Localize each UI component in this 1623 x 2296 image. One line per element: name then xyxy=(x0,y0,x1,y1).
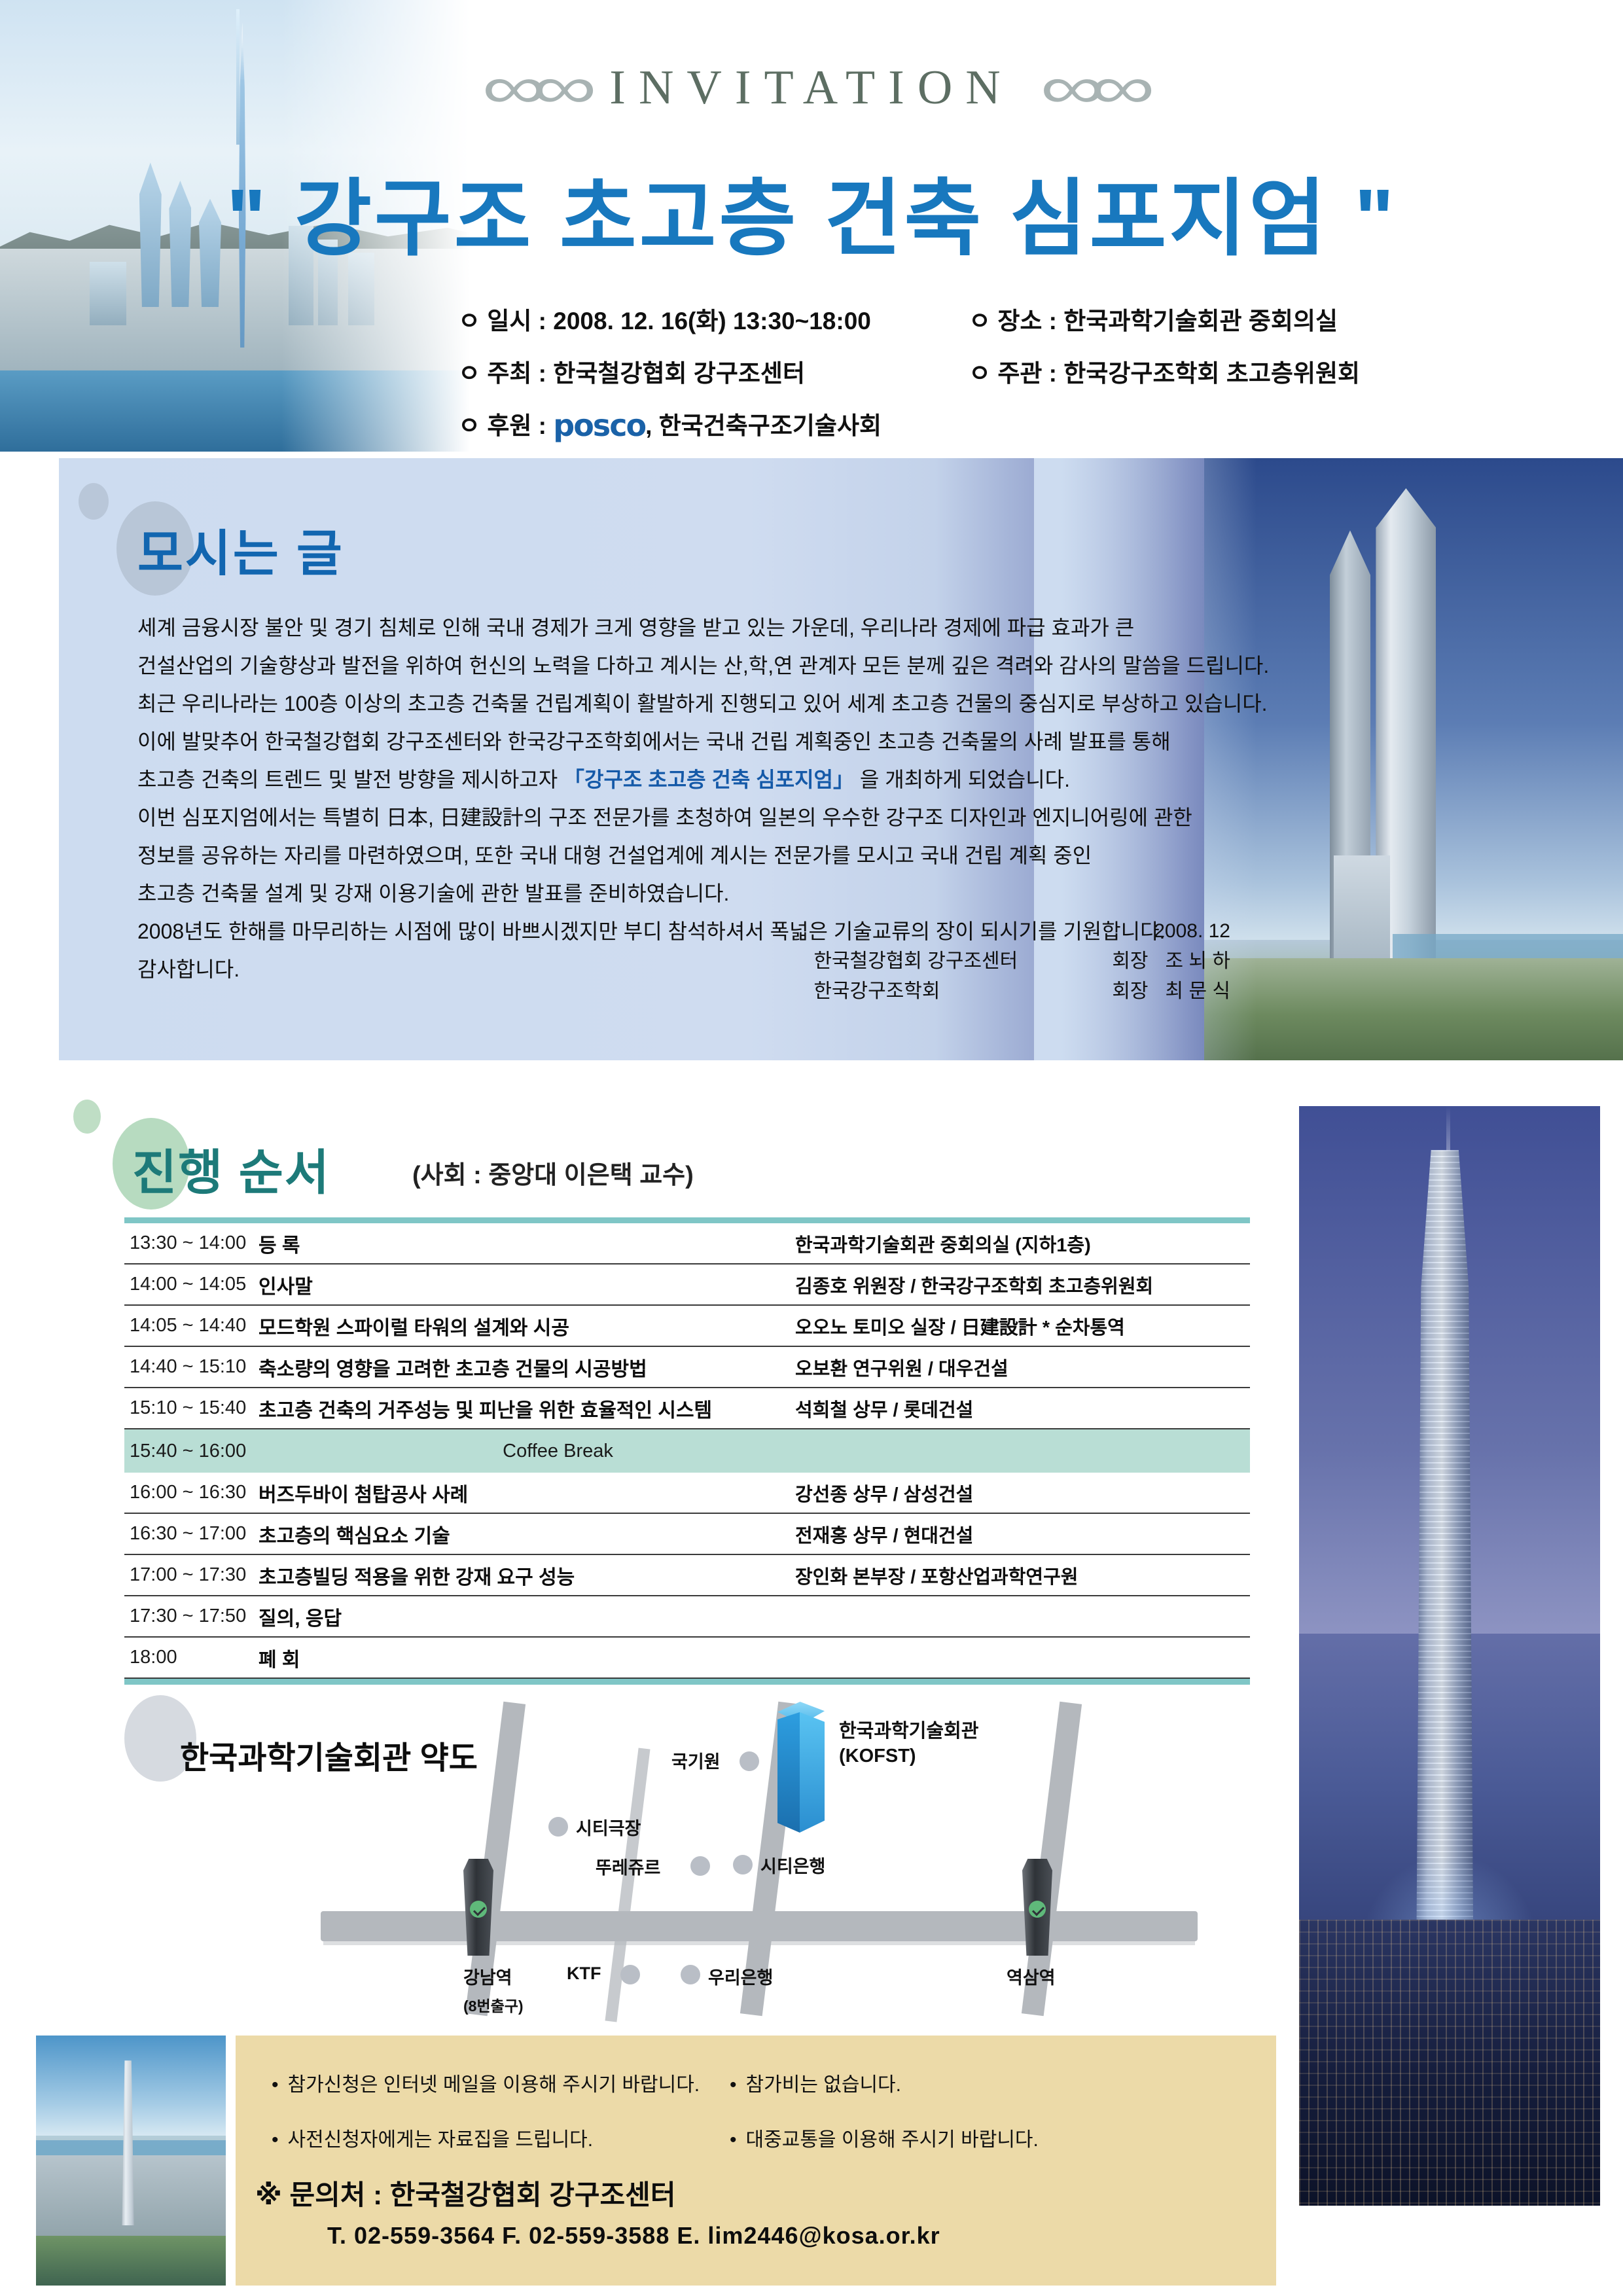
map-label-gangnam-station: 강남역 xyxy=(463,1964,512,1989)
row-speaker: 한국과학기술회관 중회의실 (지하1층) xyxy=(795,1230,1250,1257)
row-topic: 폐 회 xyxy=(259,1643,795,1672)
footer-note-text: 참가신청은 인터넷 메일을 이용해 주시기 바랍니다. xyxy=(288,2074,700,2096)
greeting-heading: 모시는 글 xyxy=(137,513,344,585)
map-label-ktf: KTF xyxy=(567,1964,601,1984)
decorative-blob-small-green xyxy=(73,1100,101,1134)
map-label-woori-bank: 우리은행 xyxy=(708,1964,773,1989)
poi-citibank-icon xyxy=(733,1855,753,1874)
kofst-name: 한국과학기술회관 xyxy=(839,1719,978,1744)
invitation-banner: ∞∞ INVITATION ∞∞ xyxy=(0,58,1623,118)
row-time: 17:30 ~ 17:50 xyxy=(124,1605,259,1627)
signature-row: 한국강구조학회 회장 최 문 식 xyxy=(813,977,1230,1007)
greeting-line: 이에 발맞추어 한국철강협회 강구조센터와 한국강구조학회에서는 국내 건립 계… xyxy=(137,723,1289,761)
footer-notes-row: •참가신청은 인터넷 메일을 이용해 주시기 바랍니다. •참가비는 없습니다. xyxy=(272,2068,1240,2097)
greeting-line: 초고층 건축물 설계 및 강재 이용기술에 관한 발표를 준비하였습니다. xyxy=(137,874,1289,912)
bullet-dot-icon: • xyxy=(730,2074,737,2096)
footer-note-text: 참가비는 없습니다. xyxy=(746,2074,901,2096)
row-topic: Coffee Break xyxy=(259,1441,1250,1462)
table-row-coffee-break: 15:40 ~ 16:00 Coffee Break xyxy=(124,1429,1250,1473)
footer-note-text: 대중교통을 이용해 주시기 바랍니다. xyxy=(746,2129,1039,2151)
poi-tous-les-jours-icon xyxy=(690,1856,710,1876)
table-row: 14:05 ~ 14:40 모드학원 스파이럴 타워의 설계와 시공 오오노 토… xyxy=(124,1306,1250,1347)
greeting-line: 최근 우리나라는 100층 이상의 초고층 건축물 건립계획이 활발하게 진행되… xyxy=(137,685,1289,723)
page-title: " 강구조 초고층 건축 심포지엄 " xyxy=(0,151,1623,272)
poi-ktf-icon xyxy=(620,1965,640,1984)
row-time: 15:10 ~ 15:40 xyxy=(124,1397,259,1419)
row-time: 15:40 ~ 16:00 xyxy=(124,1441,259,1462)
kofst-code: (KOFST) xyxy=(839,1744,978,1768)
table-row: 15:10 ~ 15:40 초고층 건축의 거주성능 및 피난을 위한 효율적인… xyxy=(124,1388,1250,1429)
contact-heading: ※ 문의처 : 한국철강협회 강구조센터 xyxy=(255,2173,675,2213)
greeting-panel: 모시는 글 세계 금융시장 불안 및 경기 침체로 인해 국내 경제가 크게 영… xyxy=(59,458,1623,1060)
row-speaker: 장인화 본부장 / 포항산업과학연구원 xyxy=(795,1562,1250,1589)
poi-woori-bank-icon xyxy=(681,1965,700,1984)
signature-row: 한국철강협회 강구조센터 회장 조 뇌 하 xyxy=(813,946,1230,977)
footer-note: •참가신청은 인터넷 메일을 이용해 주시기 바랍니다. xyxy=(272,2068,730,2097)
row-topic: 등 록 xyxy=(259,1229,795,1258)
row-topic: 질의, 응답 xyxy=(259,1602,795,1631)
table-row: 16:30 ~ 17:00 초고층의 핵심요소 기술 전재홍 상무 / 현대건설 xyxy=(124,1514,1250,1555)
row-speaker: 오보환 연구위원 / 대우건설 xyxy=(795,1354,1250,1381)
meta-row-sponsor: ㅇ 후원 : posco, 한국건축구조기술사회 xyxy=(458,406,1531,443)
greeting-line: 건설산업의 기술향상과 발전을 위하여 헌신의 노력을 다하고 계시는 산,학,… xyxy=(137,647,1289,685)
map-label-city-theater: 시티극장 xyxy=(576,1814,641,1840)
program-heading: 진행 순서 xyxy=(132,1134,330,1204)
map-section: 한국과학기술회관 약도 국기원 한국과학기술회관 (KOFST) 시티극장 뚜레… xyxy=(59,1676,1276,2042)
meta-date: ㅇ 일시 : 2008. 12. 16(화) 13:30~18:00 xyxy=(458,301,969,336)
meta-host: ㅇ 주최 : 한국철강협회 강구조센터 xyxy=(458,353,969,389)
signature-name: 최 문 식 xyxy=(1166,977,1230,1007)
bullet-dot-icon: • xyxy=(730,2129,737,2151)
poi-city-theater-icon xyxy=(548,1817,568,1837)
bullet-dot-icon: • xyxy=(272,2074,279,2096)
hero-header: ∞∞ INVITATION ∞∞ " 강구조 초고층 건축 심포지엄 " ㅇ 일… xyxy=(0,0,1623,452)
table-row: 16:00 ~ 16:30 버즈두바이 첨탑공사 사례 강선종 상무 / 삼성건… xyxy=(124,1473,1250,1514)
row-speaker: 전재홍 상무 / 현대건설 xyxy=(795,1520,1250,1548)
greeting-line: 정보를 공유하는 자리를 마련하였으며, 또한 국내 대형 건설업계에 계시는 … xyxy=(137,836,1289,874)
program-subtitle: (사회 : 중앙대 이은택 교수) xyxy=(412,1155,694,1191)
gangnam-station-marker-icon xyxy=(463,1859,493,1956)
row-topic: 인사말 xyxy=(259,1270,795,1299)
row-topic: 버즈두바이 첨탑공사 사례 xyxy=(259,1479,795,1507)
row-speaker: 강선종 상무 / 삼성건설 xyxy=(795,1479,1250,1507)
poi-gukgiwon-icon xyxy=(740,1751,759,1771)
symposium-title-highlight: 「강구조 초고층 건축 심포지엄」 xyxy=(563,768,854,791)
footer-notes: •참가신청은 인터넷 메일을 이용해 주시기 바랍니다. •참가비는 없습니다.… xyxy=(272,2068,1240,2178)
row-topic: 모드학원 스파이럴 타워의 설계와 시공 xyxy=(259,1312,795,1340)
meta-row-date-place: ㅇ 일시 : 2008. 12. 16(화) 13:30~18:00 ㅇ 장소 … xyxy=(458,301,1531,336)
bullet-dot-icon: • xyxy=(272,2129,279,2151)
table-row: 18:00 폐 회 xyxy=(124,1638,1250,1679)
signature-title: 회장 xyxy=(1112,977,1148,1007)
program-table: 13:30 ~ 14:00 등 록 한국과학기술회관 중회의실 (지하1층) 1… xyxy=(124,1217,1250,1685)
table-row: 13:30 ~ 14:00 등 록 한국과학기술회관 중회의실 (지하1층) xyxy=(124,1223,1250,1265)
footer-note-text: 사전신청자에게는 자료집을 드립니다. xyxy=(288,2129,594,2151)
map-label-tous-les-jours: 뚜레쥬르 xyxy=(596,1854,660,1879)
footer-tower-photo xyxy=(36,2036,226,2286)
row-speaker: 석희철 상무 / 롯데건설 xyxy=(795,1395,1250,1422)
row-time: 16:00 ~ 16:30 xyxy=(124,1482,259,1503)
map-label-citibank: 시티은행 xyxy=(760,1852,825,1878)
footer-note: •대중교통을 이용해 주시기 바랍니다. xyxy=(730,2123,1039,2152)
map-label-gukgiwon: 국기원 xyxy=(671,1748,721,1773)
row-time: 17:00 ~ 17:30 xyxy=(124,1564,259,1586)
yeoksam-station-marker-icon xyxy=(1022,1859,1052,1956)
ornament-flourish-left-icon: ∞∞ xyxy=(482,58,583,118)
meta-sponsor: ㅇ 후원 : posco, 한국건축구조기술사회 xyxy=(458,406,882,443)
posco-logo: posco xyxy=(553,408,645,443)
map-label-yeoksam-station: 역삼역 xyxy=(1007,1964,1056,1989)
table-row: 14:40 ~ 15:10 축소량의 영향을 고려한 초고층 건물의 시공방법 … xyxy=(124,1347,1250,1388)
meta-organizer: ㅇ 주관 : 한국강구조학회 초고층위원회 xyxy=(969,353,1360,389)
invitation-word: INVITATION xyxy=(609,60,1013,116)
night-tower-photo xyxy=(1299,1106,1600,2206)
row-time: 13:30 ~ 14:00 xyxy=(124,1232,259,1254)
row-time: 14:05 ~ 14:40 xyxy=(124,1315,259,1336)
footer-note: •사전신청자에게는 자료집을 드립니다. xyxy=(272,2123,730,2152)
greeting-line-highlighted: 초고층 건축의 트렌드 및 발전 방향을 제시하고자 「강구조 초고층 건축 심… xyxy=(137,761,1289,798)
signature-date: 2008. 12 xyxy=(813,916,1230,946)
meta-sponsor-suffix: , 한국건축구조기술사회 xyxy=(645,412,882,439)
footer-info-box: •참가신청은 인터넷 메일을 이용해 주시기 바랍니다. •참가비는 없습니다.… xyxy=(236,2036,1276,2286)
contact-details: T. 02-559-3564 F. 02-559-3588 E. lim2446… xyxy=(327,2222,940,2250)
row-speaker: 김종호 위원장 / 한국강구조학회 초고층위원회 xyxy=(795,1271,1250,1299)
row-topic: 초고층의 핵심요소 기술 xyxy=(259,1520,795,1549)
greeting-line: 세계 금융시장 불안 및 경기 침체로 인해 국내 경제가 크게 영향을 받고 … xyxy=(137,609,1289,647)
signature-org: 한국강구조학회 xyxy=(813,977,1095,1007)
map-canvas: 국기원 한국과학기술회관 (KOFST) 시티극장 뚜레쥬르 시티은행 강남역 … xyxy=(308,1695,1237,2022)
row-time: 16:30 ~ 17:00 xyxy=(124,1523,259,1545)
signature-org: 한국철강협회 강구조센터 xyxy=(813,946,1095,977)
map-label-gangnam-exit: (8번출구) xyxy=(463,1994,524,2016)
footer-note: •참가비는 없습니다. xyxy=(730,2068,901,2097)
table-top-rule xyxy=(124,1217,1250,1223)
meta-sponsor-prefix: ㅇ 후원 : xyxy=(458,412,553,439)
table-row: 14:00 ~ 14:05 인사말 김종호 위원장 / 한국강구조학회 초고층위… xyxy=(124,1265,1250,1306)
kofst-building-icon xyxy=(777,1702,825,1833)
table-row: 17:30 ~ 17:50 질의, 응답 xyxy=(124,1596,1250,1638)
row-time: 14:40 ~ 15:10 xyxy=(124,1356,259,1378)
table-row: 17:00 ~ 17:30 초고층빌딩 적용을 위한 강재 요구 성능 장인화 … xyxy=(124,1555,1250,1596)
meta-place: ㅇ 장소 : 한국과학기술회관 중회의실 xyxy=(969,301,1338,336)
row-time: 18:00 xyxy=(124,1647,259,1668)
decorative-blob-small xyxy=(79,483,109,520)
meta-row-host-organizer: ㅇ 주최 : 한국철강협회 강구조센터 ㅇ 주관 : 한국강구조학회 초고층위원… xyxy=(458,353,1531,389)
signature-title: 회장 xyxy=(1112,946,1148,977)
row-topic: 초고층빌딩 적용을 위한 강재 요구 성능 xyxy=(259,1561,795,1590)
row-speaker: 오오노 토미오 실장 / 日建設計 * 순차통역 xyxy=(795,1312,1250,1340)
signature-name: 조 뇌 하 xyxy=(1166,946,1230,977)
row-topic: 초고층 건축의 거주성능 및 피난을 위한 효율적인 시스템 xyxy=(259,1394,795,1423)
greeting-line-after: 을 개최하게 되었습니다. xyxy=(854,768,1070,791)
road-horizontal-teheran xyxy=(321,1911,1198,1941)
row-topic: 축소량의 영향을 고려한 초고층 건물의 시공방법 xyxy=(259,1353,795,1382)
ornament-flourish-right-icon: ∞∞ xyxy=(1040,58,1141,118)
footer-notes-row: •사전신청자에게는 자료집을 드립니다. •대중교통을 이용해 주시기 바랍니다… xyxy=(272,2123,1240,2152)
row-time: 14:00 ~ 14:05 xyxy=(124,1274,259,1295)
greeting-signature: 2008. 12 한국철강협회 강구조센터 회장 조 뇌 하 한국강구조학회 회… xyxy=(813,916,1230,1007)
event-meta: ㅇ 일시 : 2008. 12. 16(화) 13:30~18:00 ㅇ 장소 … xyxy=(458,301,1531,452)
map-label-kofst: 한국과학기술회관 (KOFST) xyxy=(839,1719,978,1768)
greeting-line-before: 초고층 건축의 트렌드 및 발전 방향을 제시하고자 xyxy=(137,768,563,791)
greeting-line: 이번 심포지엄에서는 특별히 日本, 日建設計의 구조 전문가를 초청하여 일본… xyxy=(137,798,1289,836)
